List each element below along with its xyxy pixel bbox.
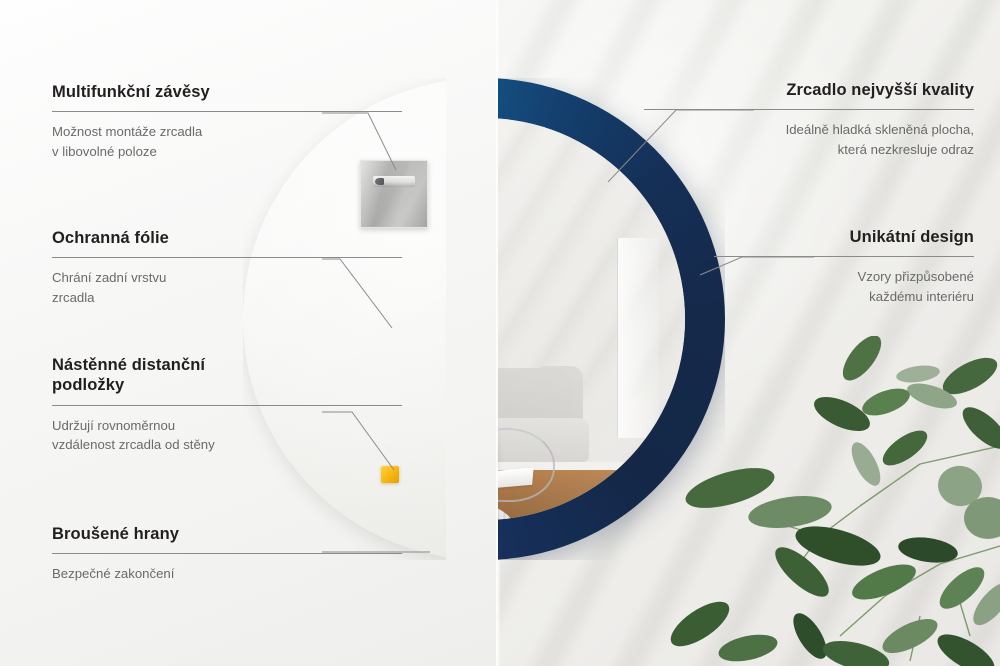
callout-nastenne-distancni-podlozky: Nástěnné distanční podložky Udržují rovn… bbox=[52, 355, 402, 454]
callout-rule bbox=[644, 109, 974, 110]
callout-desc-line: Udržují rovnoměrnou bbox=[52, 416, 402, 435]
callout-desc: Udržují rovnoměrnou vzdálenost zrcadla o… bbox=[52, 416, 402, 454]
callout-desc-line: Vzory přizpůsobené bbox=[714, 267, 974, 286]
callout-desc-line: v libovolné poloze bbox=[52, 142, 402, 161]
callout-desc-line: která nezkresluje odraz bbox=[644, 140, 974, 159]
callout-title: Ochranná fólie bbox=[52, 228, 402, 248]
callout-rule bbox=[714, 256, 974, 257]
callout-desc: Ideálně hladká skleněná plocha, která ne… bbox=[644, 120, 974, 158]
callout-multifunkcni-zavesy: Multifunkční závěsy Možnost montáže zrca… bbox=[52, 82, 402, 161]
callout-desc-line: Bezpečné zakončení bbox=[52, 564, 402, 583]
callout-desc-line: Ideálně hladká skleněná plocha, bbox=[644, 120, 974, 139]
hanger-sheen bbox=[361, 161, 427, 227]
callout-desc-line: vzdálenost zrcadla od stěny bbox=[52, 435, 402, 454]
callout-desc-line: zrcadla bbox=[52, 288, 402, 307]
callout-rule bbox=[52, 553, 402, 554]
leaf-cluster bbox=[670, 336, 1000, 666]
callout-rule bbox=[52, 111, 402, 112]
callout-title-line: podložky bbox=[52, 375, 402, 395]
callout-desc: Bezpečné zakončení bbox=[52, 564, 402, 583]
callout-title: Broušené hrany bbox=[52, 524, 402, 544]
spacer-pad bbox=[381, 466, 399, 483]
callout-desc-line: každému interiéru bbox=[714, 287, 974, 306]
callout-title: Unikátní design bbox=[714, 227, 974, 247]
callout-unikatni-design: Unikátní design Vzory přizpůsobené každé… bbox=[714, 227, 974, 306]
hanger-plate bbox=[360, 160, 428, 228]
product-feature-infographic: Multifunkční závěsy Možnost montáže zrca… bbox=[0, 0, 1000, 666]
reflection-doorway bbox=[617, 238, 659, 438]
callout-title: Nástěnné distanční podložky bbox=[52, 355, 402, 396]
callout-title-line: Nástěnné distanční bbox=[52, 355, 402, 375]
callout-ochranna-folie: Ochranná fólie Chrání zadní vrstvu zrcad… bbox=[52, 228, 402, 307]
callout-title: Zrcadlo nejvyšší kvality bbox=[644, 80, 974, 100]
callout-desc-line: Chrání zadní vrstvu bbox=[52, 268, 402, 287]
callout-rule bbox=[52, 257, 402, 258]
callout-zrcadlo-nejvyssi-kvality: Zrcadlo nejvyšší kvality Ideálně hladká … bbox=[644, 80, 974, 159]
callout-desc-line: Možnost montáže zrcadla bbox=[52, 122, 402, 141]
callout-title: Multifunkční závěsy bbox=[52, 82, 402, 102]
callout-desc: Vzory přizpůsobené každému interiéru bbox=[714, 267, 974, 305]
callout-desc: Možnost montáže zrcadla v libovolné polo… bbox=[52, 122, 402, 160]
callout-rule bbox=[52, 405, 402, 406]
foliage-decoration bbox=[670, 336, 1000, 666]
callout-brousene-hrany: Broušené hrany Bezpečné zakončení bbox=[52, 524, 402, 584]
callout-desc: Chrání zadní vrstvu zrcadla bbox=[52, 268, 402, 306]
